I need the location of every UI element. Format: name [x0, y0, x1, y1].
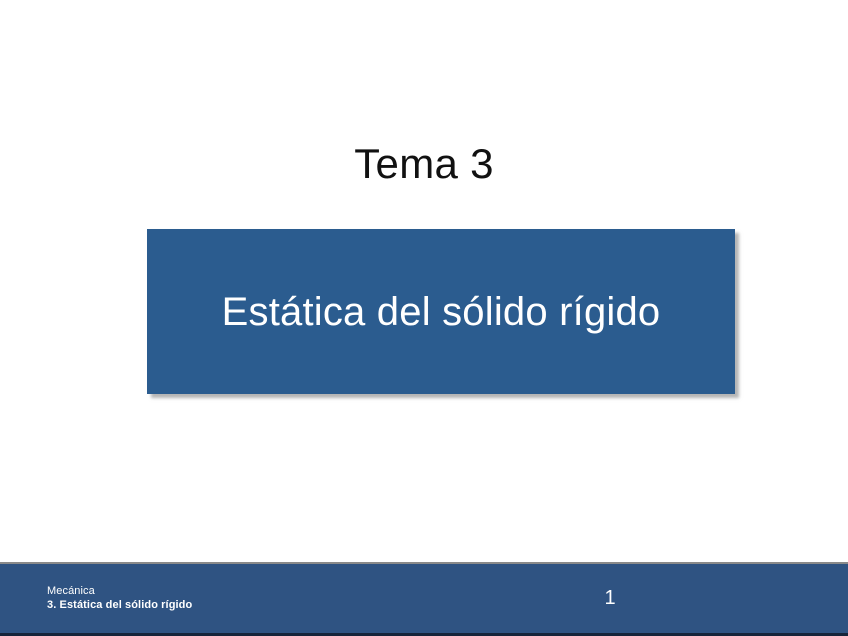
title-banner-label: Estática del sólido rígido: [222, 288, 661, 336]
title-banner: Estática del sólido rígido: [147, 229, 735, 394]
presentation-slide: Tema 3 Estática del sólido rígido Mecáni…: [0, 0, 848, 636]
footer-topic-label: 3. Estática del sólido rígido: [47, 598, 192, 612]
slide-footer: Mecánica 3. Estática del sólido rígido: [0, 562, 848, 636]
page-number: 1: [580, 585, 640, 611]
page-title: Tema 3: [0, 138, 848, 190]
footer-text-group: Mecánica 3. Estática del sólido rígido: [47, 584, 192, 612]
footer-course-label: Mecánica: [47, 584, 192, 598]
